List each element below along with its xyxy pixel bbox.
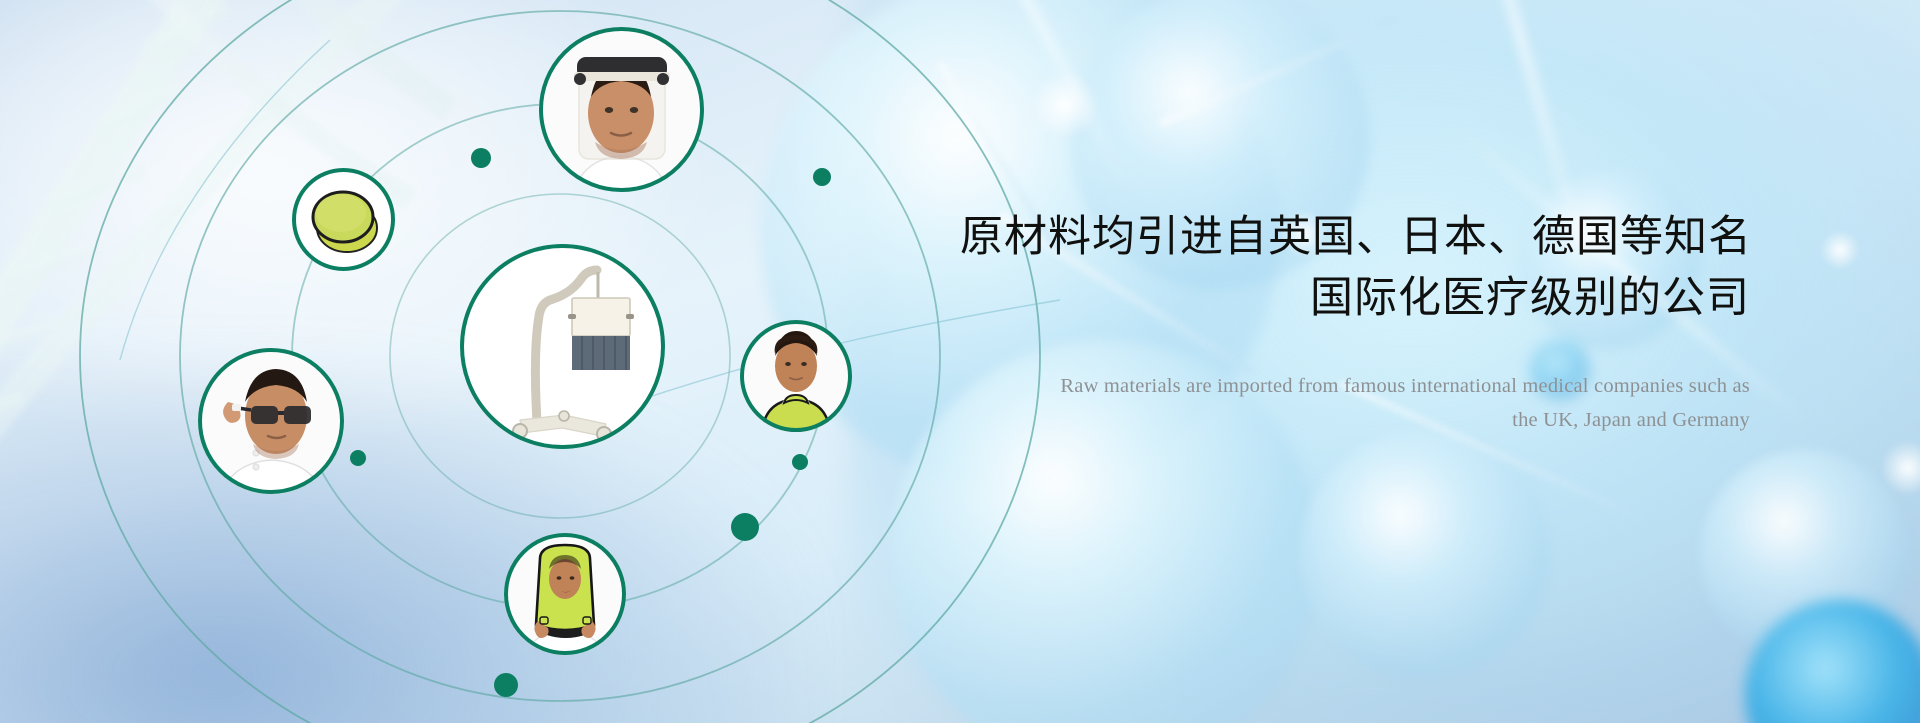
lead-protective-cap-product-icon <box>292 168 395 271</box>
banner-copy: 原材料均引进自英国、日本、德国等知名 国际化医疗级别的公司 Raw materi… <box>960 208 1750 438</box>
bubble-thyroid-collar[interactable] <box>740 320 852 432</box>
subtitle-line-2: the UK, Japan and Germany <box>960 403 1750 437</box>
technician-wearing-lead-hood-icon <box>504 533 626 655</box>
subtitle-line-1: Raw materials are imported from famous i… <box>960 369 1750 403</box>
subtitle: Raw materials are imported from famous i… <box>960 369 1750 438</box>
bubble-face-shield[interactable] <box>539 27 704 192</box>
bubble-lead-glasses[interactable] <box>198 348 344 494</box>
bubble-lead-cap[interactable] <box>292 168 395 271</box>
hero-banner: 原材料均引进自英国、日本、德国等知名 国际化医疗级别的公司 Raw materi… <box>0 0 1920 723</box>
technician-wearing-face-shield-icon <box>539 27 704 192</box>
technician-wearing-thyroid-collar-icon <box>740 320 852 432</box>
headline-line-2: 国际化医疗级别的公司 <box>960 269 1750 328</box>
bubble-lead-hood[interactable] <box>504 533 626 655</box>
bubble-mobile-barrier[interactable] <box>460 244 665 449</box>
mobile-x-ray-barrier-product-icon <box>460 244 665 449</box>
technician-wearing-lead-glasses-icon <box>198 348 344 494</box>
headline-line-1: 原材料均引进自英国、日本、德国等知名 <box>960 208 1750 267</box>
